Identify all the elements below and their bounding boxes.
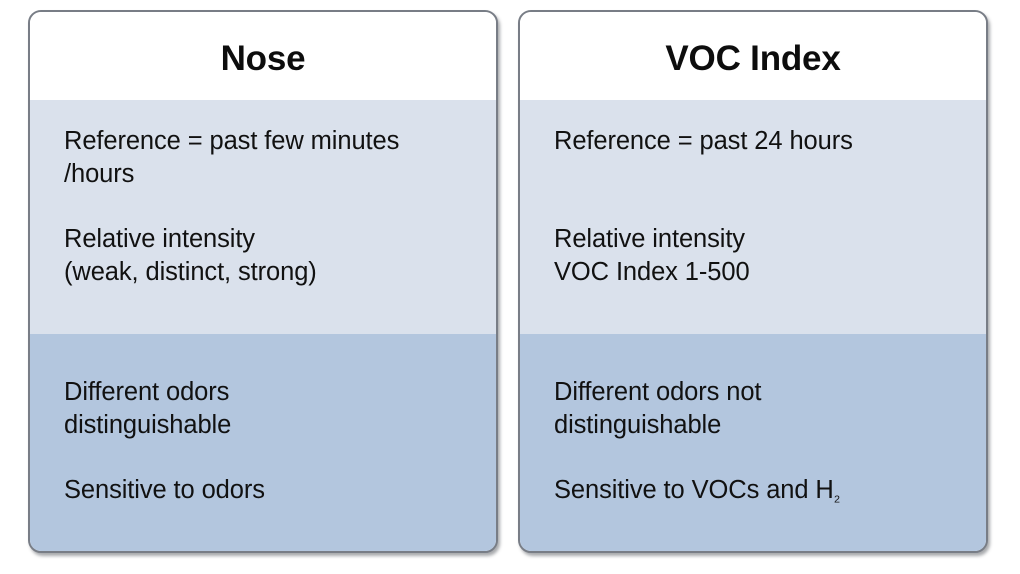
voc-intensity-text: Relative intensity VOC Index 1-500	[554, 223, 968, 289]
page-title-nose: Nose	[221, 37, 306, 76]
voc-sensitivity-text: Sensitive to VOCs and H₂	[554, 474, 968, 509]
card-bottom-section-voc-index: Different odors not distinguishable Sens…	[520, 334, 986, 551]
text-line: /hours	[64, 158, 478, 191]
text-line: Sensitive to VOCs and H₂	[554, 474, 968, 509]
text-line: VOC Index 1-500	[554, 256, 968, 289]
card-middle-section-voc-index: Reference = past 24 hours Relative inten…	[520, 100, 986, 334]
nose-sensitivity-text: Sensitive to odors	[64, 474, 478, 507]
text-line: distinguishable	[64, 409, 478, 442]
nose-reference-text: Reference = past few minutes /hours	[64, 125, 478, 191]
text-line: Reference = past 24 hours	[554, 125, 968, 158]
text-line: Relative intensity	[554, 223, 968, 256]
text-line: Sensitive to odors	[64, 474, 478, 507]
comparison-card-nose: Nose Reference = past few minutes /hours…	[28, 10, 498, 553]
hydrogen-subscript: ₂	[834, 486, 840, 505]
text-line: distinguishable	[554, 409, 968, 442]
voc-distinguishable-text: Different odors not distinguishable	[554, 376, 968, 442]
voc-reference-text: Reference = past 24 hours	[554, 125, 968, 158]
nose-intensity-text: Relative intensity (weak, distinct, stro…	[64, 223, 478, 289]
text-line: Different odors	[64, 376, 478, 409]
text-line: Reference = past few minutes	[64, 125, 478, 158]
card-bottom-section-nose: Different odors distinguishable Sensitiv…	[30, 334, 496, 551]
card-middle-section-nose: Reference = past few minutes /hours Rela…	[30, 100, 496, 334]
page-title-voc-index: VOC Index	[665, 37, 840, 76]
card-header-voc-index: VOC Index	[520, 12, 986, 100]
text-line: (weak, distinct, strong)	[64, 256, 478, 289]
comparison-board: Nose Reference = past few minutes /hours…	[0, 0, 1020, 574]
nose-distinguishable-text: Different odors distinguishable	[64, 376, 478, 442]
voc-sensitivity-main: Sensitive to VOCs and H	[554, 476, 834, 504]
text-line: Different odors not	[554, 376, 968, 409]
text-line: Relative intensity	[64, 223, 478, 256]
card-header-nose: Nose	[30, 12, 496, 100]
comparison-card-voc-index: VOC Index Reference = past 24 hours Rela…	[518, 10, 988, 553]
